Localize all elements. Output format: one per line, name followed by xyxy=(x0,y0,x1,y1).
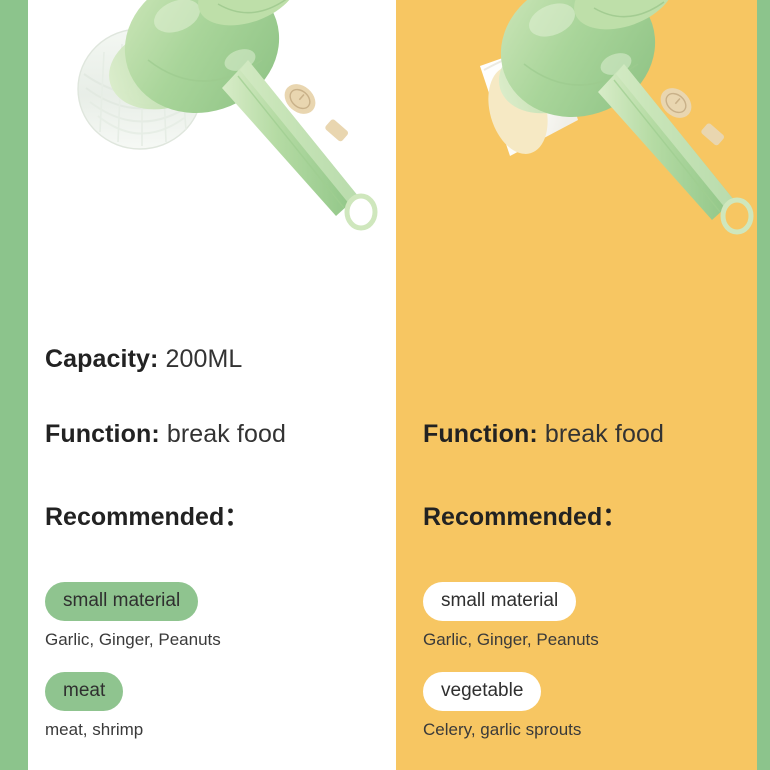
function-line: Function: break food xyxy=(45,420,384,449)
capacity-line: Capacity: 200ML xyxy=(45,345,384,374)
left-product-panel: Capacity: 200ML Function: break food Rec… xyxy=(0,0,396,770)
recommendation-group: small material Garlic, Ginger, Peanuts xyxy=(45,582,384,650)
battery-indicator xyxy=(324,118,349,142)
right-recommended-groups: small material Garlic, Ginger, Peanuts v… xyxy=(423,582,758,740)
right-recommended-heading-block: Recommended： xyxy=(423,497,758,533)
right-edge-strip xyxy=(757,0,770,770)
tag-items-small-material: Garlic, Ginger, Peanuts xyxy=(45,630,384,650)
hanging-loop xyxy=(723,200,751,232)
tag-items-vegetable: Celery, garlic sprouts xyxy=(423,720,758,740)
left-edge-strip xyxy=(0,0,28,770)
recommendation-group: small material Garlic, Ginger, Peanuts xyxy=(423,582,758,650)
right-function-block: Function: break food xyxy=(423,420,758,449)
left-spec-block: Capacity: 200ML xyxy=(45,345,384,374)
device-handle xyxy=(222,60,358,216)
left-function-block: Function: break food xyxy=(45,420,384,449)
recommendation-group: vegetable Celery, garlic sprouts xyxy=(423,672,758,740)
hanging-loop xyxy=(347,196,375,228)
tag-vegetable: vegetable xyxy=(423,672,541,711)
chopper-device-clear-bowl xyxy=(52,0,382,264)
tag-meat: meat xyxy=(45,672,123,711)
function-line: Function: break food xyxy=(423,420,758,449)
tag-items-small-material: Garlic, Ginger, Peanuts xyxy=(423,630,758,650)
capacity-label: Capacity: xyxy=(45,345,158,373)
panel-container: Capacity: 200ML Function: break food Rec… xyxy=(0,0,770,770)
recommended-heading: Recommended： xyxy=(423,497,758,533)
left-recommended-heading-block: Recommended： xyxy=(45,497,384,533)
function-value: break food xyxy=(167,420,286,448)
right-product-panel: Function: break food Recommended： small … xyxy=(396,0,770,770)
right-product-photo xyxy=(396,0,770,300)
battery-indicator xyxy=(700,122,725,146)
tag-small-material: small material xyxy=(45,582,198,621)
product-comparison-page: Capacity: 200ML Function: break food Rec… xyxy=(0,0,770,770)
device-handle xyxy=(598,64,734,220)
left-recommended-groups: small material Garlic, Ginger, Peanuts m… xyxy=(45,582,384,740)
function-label: Function: xyxy=(423,420,538,448)
chopper-device-whisk-bowl xyxy=(428,0,758,270)
left-product-photo xyxy=(0,0,396,300)
function-value: break food xyxy=(545,420,664,448)
recommendation-group: meat meat, shrimp xyxy=(45,672,384,740)
capacity-value: 200ML xyxy=(165,345,242,373)
tag-items-meat: meat, shrimp xyxy=(45,720,384,740)
recommended-heading: Recommended： xyxy=(45,497,384,533)
function-label: Function: xyxy=(45,420,160,448)
tag-small-material: small material xyxy=(423,582,576,621)
